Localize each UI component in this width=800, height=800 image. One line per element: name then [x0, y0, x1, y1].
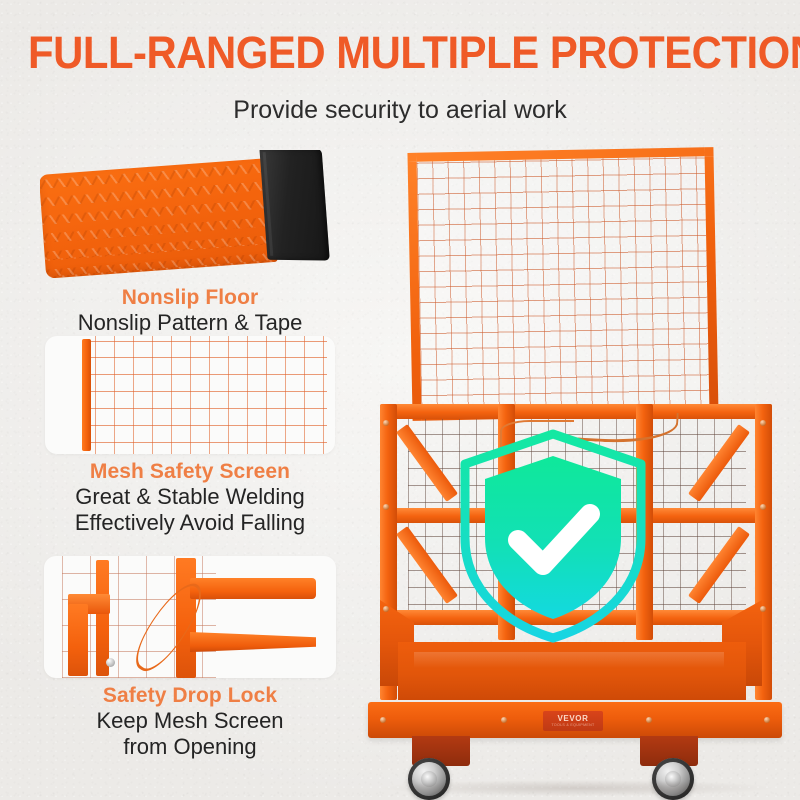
mesh-screen-illustration	[45, 336, 335, 454]
antislip-tape-icon	[259, 150, 329, 261]
floor-pan-deck	[398, 642, 746, 700]
rivet	[646, 717, 652, 723]
feature-nonslip-floor: Nonslip Floor Nonslip Pattern & Tape	[0, 150, 380, 336]
promo-image: FULL-RANGED MULTIPLE PROTECTION Provide …	[0, 0, 800, 800]
feature-mesh-safety-screen: Mesh Safety Screen Great & Stable Weldin…	[0, 336, 380, 535]
cage-base-plinth: VEVOR TOOLS & EQUIPMENT	[368, 702, 782, 738]
lock-bracket-drop-icon	[68, 604, 88, 676]
brand-nameplate: VEVOR TOOLS & EQUIPMENT	[543, 711, 603, 731]
rivet	[383, 504, 389, 510]
rivet	[760, 420, 766, 426]
lock-arm-upper-icon	[190, 578, 316, 599]
rivet	[501, 717, 507, 723]
rivet	[764, 717, 770, 723]
brand-tagline: TOOLS & EQUIPMENT	[552, 724, 595, 728]
feature-desc-lock-line-2: from Opening	[0, 734, 380, 760]
diamond-plate-floor-icon	[40, 158, 278, 279]
feature-title-safety-drop-lock: Safety Drop Lock	[0, 684, 380, 708]
feature-desc-mesh-line-1: Great & Stable Welding	[0, 484, 380, 510]
page-headline: FULL-RANGED MULTIPLE PROTECTION	[28, 30, 772, 75]
shield-check-badge	[458, 428, 648, 644]
mesh-frame-post-icon	[82, 339, 91, 451]
floor-plate-group	[40, 150, 340, 280]
feature-title-mesh-safety-screen: Mesh Safety Screen	[0, 460, 380, 484]
gate-wire-mesh-icon	[417, 156, 710, 411]
nonslip-floor-illustration	[40, 150, 340, 280]
floor-pan-deck-sheen	[414, 652, 724, 668]
feature-safety-drop-lock: Safety Drop Lock Keep Mesh Screen from O…	[0, 556, 380, 759]
page-subtitle: Provide security to aerial work	[0, 96, 800, 125]
lock-arm-lower-icon	[190, 632, 316, 652]
wire-mesh-grid-icon	[91, 336, 327, 454]
rivet	[760, 606, 766, 612]
rivet	[383, 606, 389, 612]
rivet	[383, 420, 389, 426]
ground-shadow	[382, 780, 772, 796]
upper-mesh-gate	[407, 147, 718, 421]
feature-title-nonslip-floor: Nonslip Floor	[0, 286, 380, 310]
drop-lock-illustration	[44, 556, 336, 678]
lock-pin-icon	[106, 658, 115, 667]
feature-desc-lock-line-1: Keep Mesh Screen	[0, 708, 380, 734]
shield-check-icon	[458, 428, 648, 644]
brand-name: VEVOR	[557, 715, 588, 723]
rivet	[380, 717, 386, 723]
rivet	[760, 504, 766, 510]
tread-pattern-icon	[40, 158, 278, 279]
product-photo-forklift-safety-cage: VEVOR TOOLS & EQUIPMENT	[352, 132, 800, 800]
feature-desc-nonslip-floor-line-1: Nonslip Pattern & Tape	[0, 310, 380, 336]
feature-desc-mesh-line-2: Effectively Avoid Falling	[0, 510, 380, 536]
